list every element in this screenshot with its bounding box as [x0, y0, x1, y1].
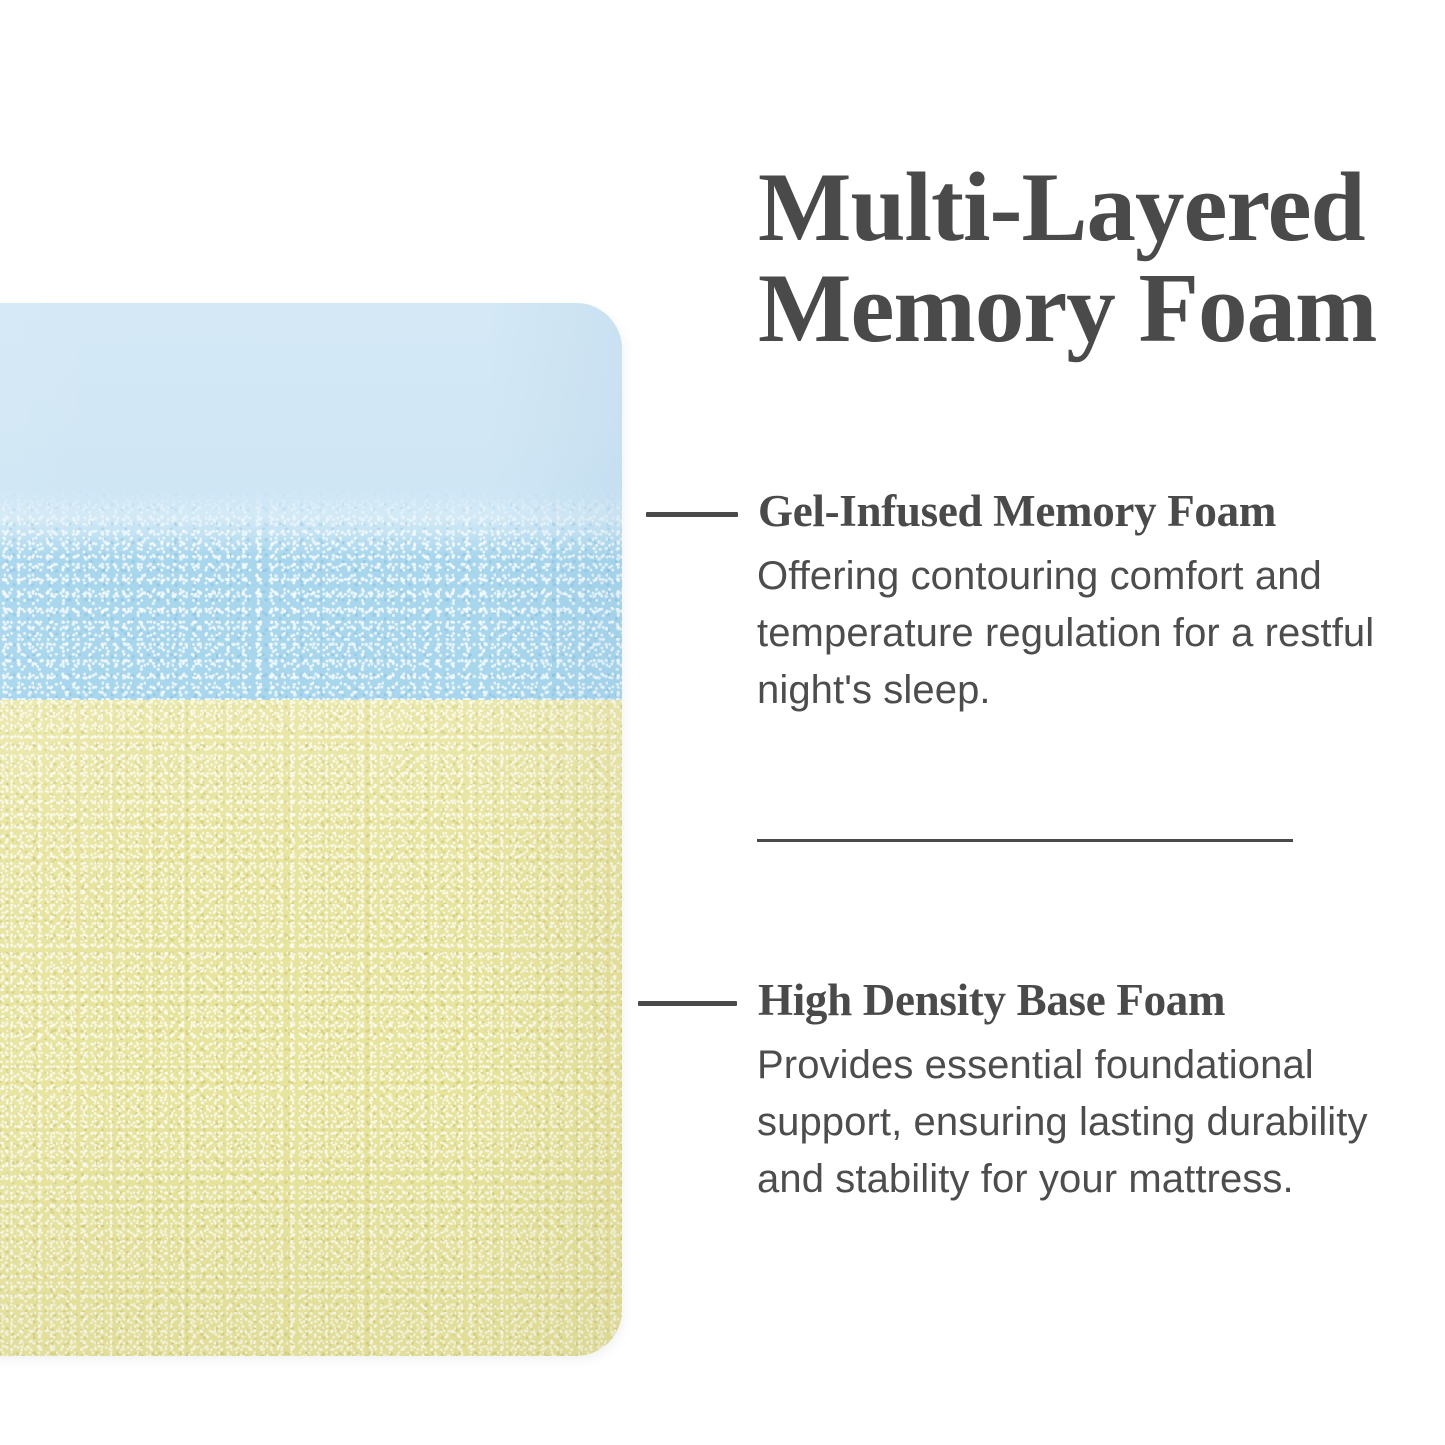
foam-block-illustration — [0, 303, 622, 1356]
section-divider — [757, 839, 1293, 842]
callout-heading-base: High Density Base Foam — [758, 978, 1225, 1023]
gel-foam-shading — [0, 303, 622, 700]
callout-body-base: Provides essential foundational support,… — [757, 1037, 1417, 1207]
callout-leader-dash-icon — [638, 1001, 737, 1006]
callout-leader-dash-icon — [646, 512, 738, 517]
infographic-page: Multi-Layered Memory Foam Gel-Infused Me… — [0, 0, 1445, 1445]
base-foam-shading — [0, 700, 622, 1356]
callout-heading-gel: Gel-Infused Memory Foam — [758, 489, 1276, 534]
foam-layer-gel-infused — [0, 303, 622, 700]
foam-layer-high-density-base — [0, 700, 622, 1356]
callout-body-gel: Offering contouring comfort and temperat… — [757, 548, 1397, 718]
page-title: Multi-Layered Memory Foam — [758, 158, 1398, 360]
